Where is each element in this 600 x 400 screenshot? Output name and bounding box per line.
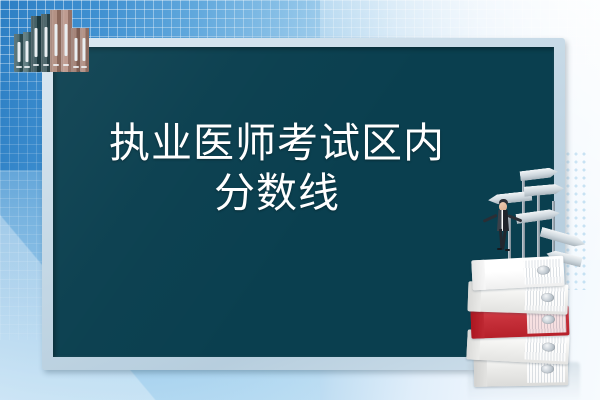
- businessman-torso: [497, 210, 509, 231]
- binder-spine: [61, 10, 72, 72]
- signpost-arrow-5: [540, 227, 587, 249]
- binder-spine-label: [74, 38, 77, 61]
- title-line-2: 分数线: [42, 168, 512, 218]
- binder-spine-edge: [471, 260, 486, 291]
- businessman-arm-left: [483, 214, 498, 223]
- binder-spine-ring: [16, 66, 22, 68]
- binder-spine-label: [65, 24, 68, 56]
- binder-spine-edge: [474, 357, 488, 387]
- binder-spine-edge: [471, 308, 485, 338]
- binder-1: [471, 256, 564, 291]
- businessman-figure: [484, 199, 524, 261]
- binder-spine-ring: [33, 64, 39, 66]
- binder-spine: [41, 14, 51, 72]
- binder-spine-label: [26, 41, 29, 62]
- binder-spine-ring: [73, 66, 79, 68]
- signpost-arrow-1: [520, 167, 559, 182]
- binder-spine: [80, 28, 89, 72]
- businessman-on-binder-stack-illustration: [462, 155, 600, 400]
- businessman-arm-right: [508, 214, 523, 222]
- binder-spine-label: [35, 28, 38, 57]
- binder-spine-ring: [63, 64, 69, 66]
- binder-spine: [31, 16, 41, 72]
- slide-title: 执业医师考试区内 分数线: [42, 118, 512, 218]
- businessman-shoe-right: [505, 249, 510, 251]
- binder-spine-ring: [81, 66, 87, 68]
- binder-spine: [50, 10, 61, 72]
- binder-spines-decoration: [14, 0, 96, 72]
- signpost-arrow-3: [524, 183, 565, 196]
- binder-spine-ring: [24, 66, 30, 68]
- slide-canvas: 执业医师考试区内 分数线: [0, 0, 600, 400]
- binder-spine-label: [17, 42, 20, 62]
- binder-spine-label: [44, 27, 47, 57]
- binder-spine-ring: [53, 64, 59, 66]
- binder-spine-label: [83, 38, 86, 61]
- businessman-head: [499, 202, 507, 211]
- businessman-shoe-left: [497, 248, 502, 250]
- binder-spine-label: [54, 24, 57, 56]
- title-line-1: 执业医师考试区内: [42, 118, 512, 168]
- binder-spine-ring: [43, 64, 49, 66]
